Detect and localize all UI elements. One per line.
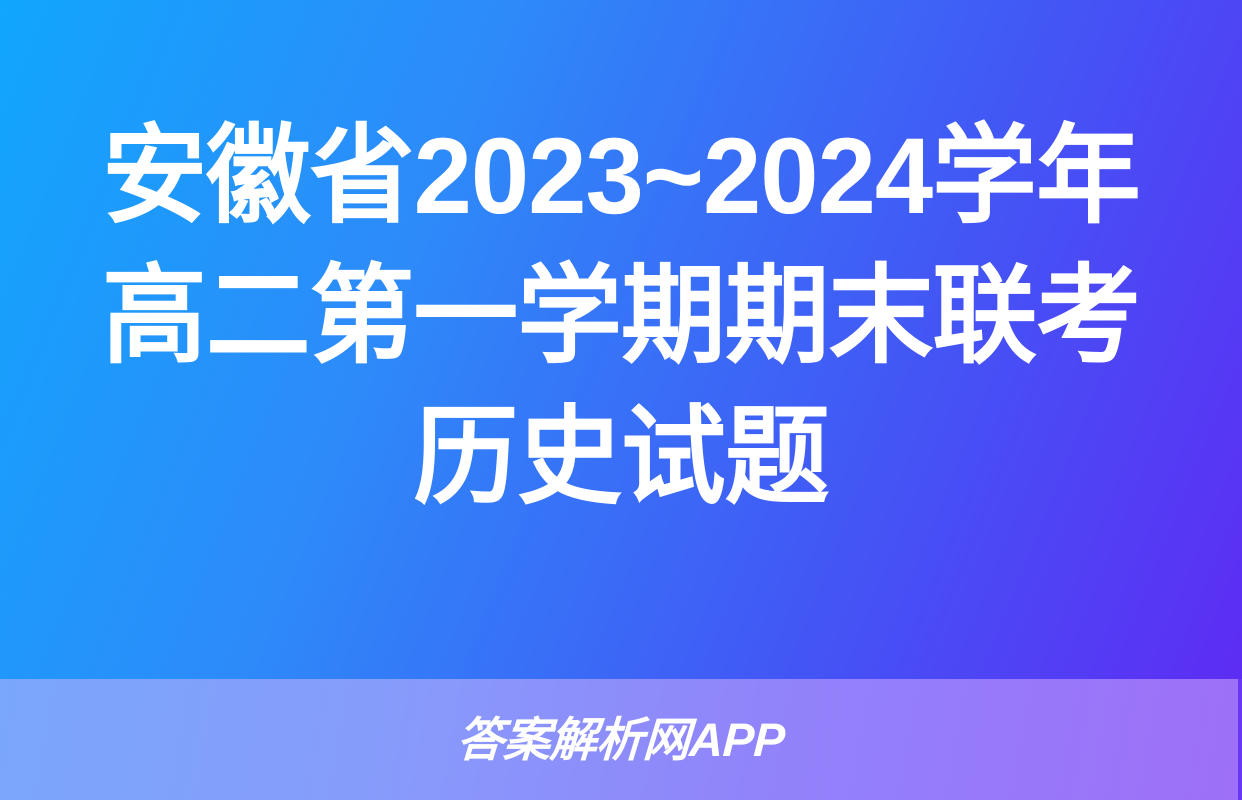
cover-hero: 安徽省2023~2024学年高二第一学期期末联考历史试题: [0, 0, 1242, 679]
app-watermark-band: 答案解析网APP: [0, 679, 1242, 800]
band-right-edge-accent: [1238, 679, 1242, 800]
app-watermark-label: 答案解析网APP: [456, 716, 786, 763]
exam-cover-card: 安徽省2023~2024学年高二第一学期期末联考历史试题 答案解析网APP: [0, 0, 1242, 800]
page-title: 安徽省2023~2024学年高二第一学期期末联考历史试题: [88, 106, 1153, 527]
